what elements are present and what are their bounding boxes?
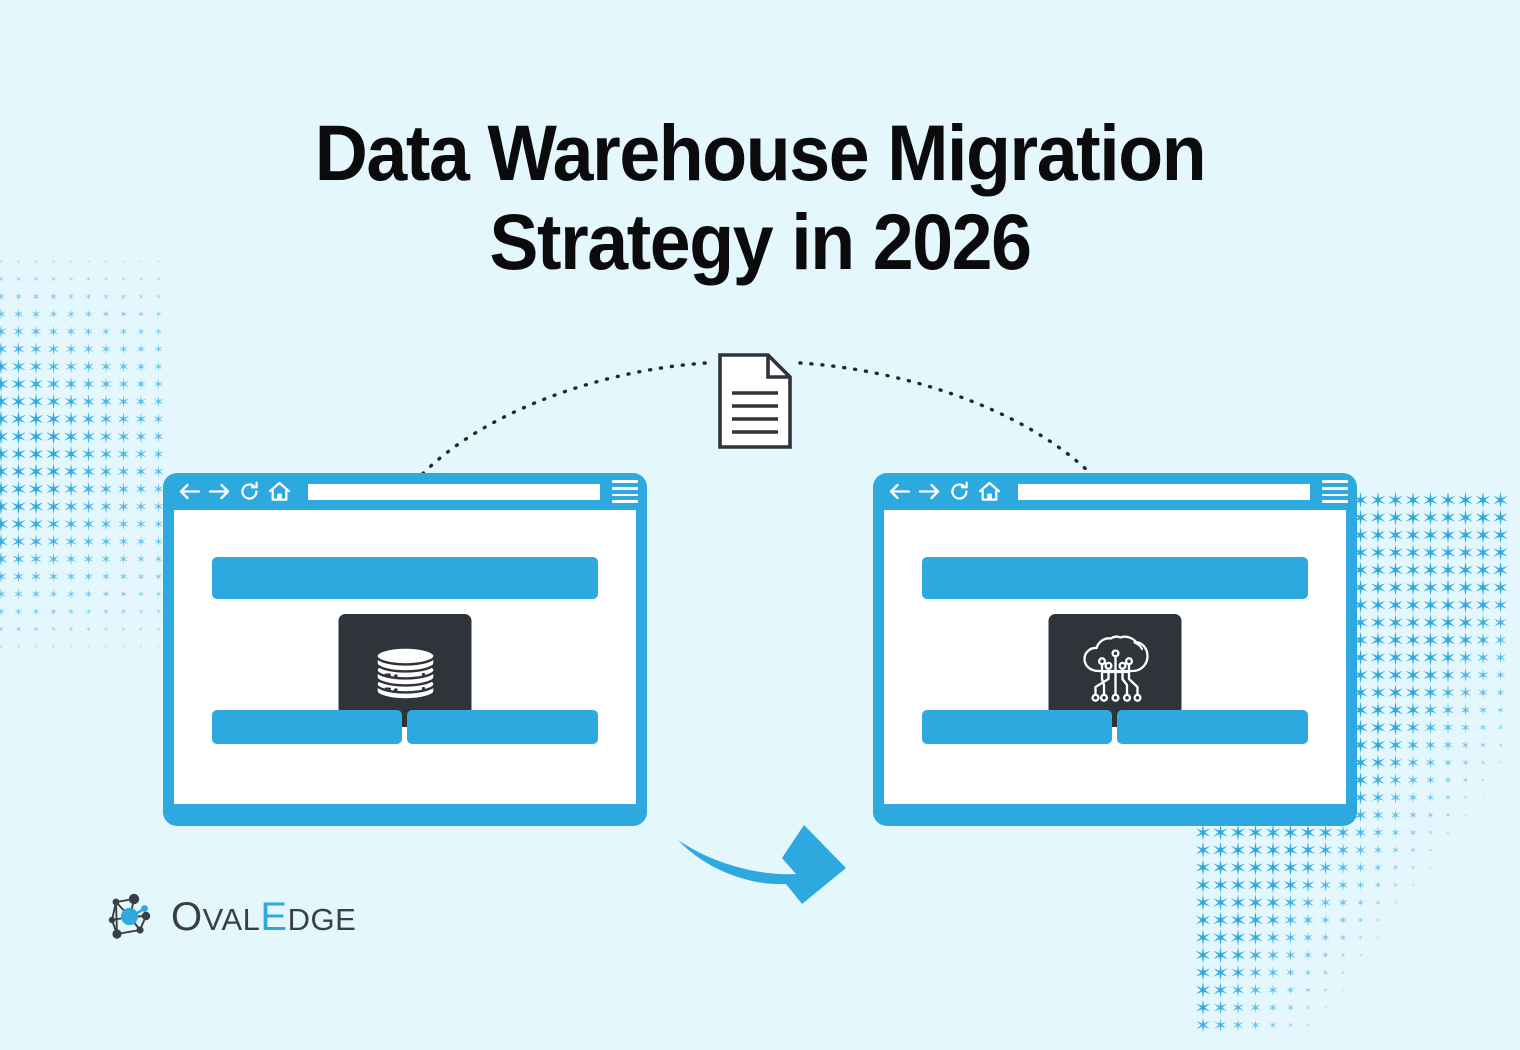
brand-letter-e: E <box>260 895 287 939</box>
target-footer-bar-right <box>1117 710 1308 744</box>
dotted-arc-right <box>800 363 1106 490</box>
target-footer-bar-left <box>922 710 1112 744</box>
home-icon[interactable] <box>264 479 294 505</box>
target-hero-bar <box>922 557 1308 599</box>
back-arrow-icon[interactable] <box>884 479 914 505</box>
target-browser-page <box>884 510 1346 804</box>
halftone-left <box>0 236 184 706</box>
source-browser-page <box>174 510 636 804</box>
source-footer-bar-right <box>407 710 598 744</box>
cloud-circuit-icon <box>1076 635 1154 707</box>
brand-text-val: VAL <box>203 902 261 937</box>
document-icon <box>720 355 790 447</box>
hamburger-menu-icon[interactable] <box>1322 480 1348 504</box>
target-browser-window[interactable] <box>873 473 1357 826</box>
brand-text-dge: DGE <box>288 902 357 937</box>
page-title-line-1: Data Warehouse Migration <box>315 108 1205 197</box>
source-footer-bar-left <box>212 710 402 744</box>
database-stack-icon <box>370 638 440 704</box>
target-browser-toolbar <box>873 473 1357 510</box>
document-node <box>718 353 792 449</box>
reload-icon[interactable] <box>944 479 974 505</box>
migration-arrow <box>676 818 858 910</box>
brand-wordmark: OVALEDGE <box>171 897 356 937</box>
source-hero-bar <box>212 557 598 599</box>
network-graph-icon <box>103 890 157 944</box>
page-title-line-2: Strategy in 2026 <box>489 197 1030 286</box>
source-browser-window[interactable] <box>163 473 647 826</box>
forward-arrow-icon[interactable] <box>914 479 944 505</box>
source-address-bar[interactable] <box>308 484 600 500</box>
hamburger-menu-icon[interactable] <box>612 480 638 504</box>
home-icon[interactable] <box>974 479 1004 505</box>
curved-arrow-right-icon <box>678 825 846 904</box>
brand-letter-o: O <box>171 895 203 939</box>
reload-icon[interactable] <box>234 479 264 505</box>
target-address-bar[interactable] <box>1018 484 1310 500</box>
poster-canvas: Data Warehouse Migration Strategy in 202… <box>0 0 1520 1050</box>
page-title: Data Warehouse Migration Strategy in 202… <box>53 108 1467 287</box>
forward-arrow-icon[interactable] <box>204 479 234 505</box>
brand-logo[interactable]: OVALEDGE <box>103 890 356 944</box>
source-browser-toolbar <box>163 473 647 510</box>
back-arrow-icon[interactable] <box>174 479 204 505</box>
dotted-arc-left <box>408 363 706 490</box>
